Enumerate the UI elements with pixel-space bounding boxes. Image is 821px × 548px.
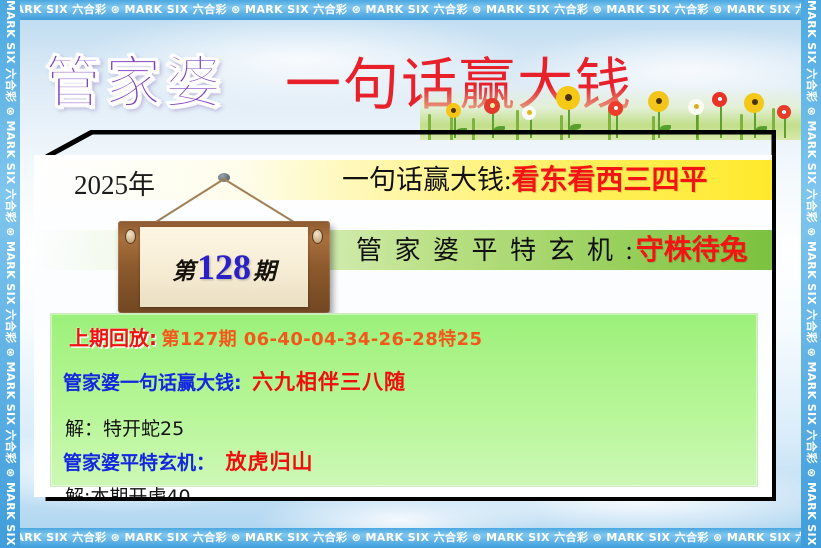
main-panel-frame: 一句话赢大钱:看东看西三四平 管 家 婆 平 特 玄 机 :守株待兔 第128期 <box>30 130 776 501</box>
panel-body: 一句话赢大钱:看东看西三四平 管 家 婆 平 特 玄 机 :守株待兔 第128期 <box>34 155 772 497</box>
plaque-text: 第128期 <box>140 227 308 307</box>
banner-yellow-value: 看东看西三四平 <box>512 163 708 196</box>
banner-yellow-content: 一句话赢大钱:看东看西三四平 <box>342 160 708 200</box>
answer-1-text: 解：特开蛇25 <box>65 418 184 440</box>
plaque-prefix: 第 <box>172 259 195 285</box>
border-band-bottom: MARK SIX 六合彩 ⊛ MARK SIX 六合彩 ⊛ MARK SIX 六… <box>0 528 821 548</box>
border-band-right: MARK SIX 六合彩 ⊛ MARK SIX 六合彩 ⊛ MARK SIX 六… <box>801 0 821 548</box>
xuanji-row-value: 放虎归山 <box>225 450 313 474</box>
border-marquee-text-right: MARK SIX 六合彩 ⊛ MARK SIX 六合彩 ⊛ MARK SIX 六… <box>801 0 821 548</box>
plaque-hole-right-icon <box>312 229 323 244</box>
content-box: 上期回放: 第127期 06-40-04-34-26-28特25 管家婆一句话赢… <box>50 313 758 487</box>
plaque-parchment: 第128期 <box>140 227 308 307</box>
xuanji-row-label: 管家婆平特玄机： <box>63 452 215 474</box>
banner-yellow-label: 一句话赢大钱: <box>342 165 512 195</box>
slogan-row-label: 管家婆一句话赢大钱: <box>63 372 242 394</box>
plaque-hole-left-icon <box>125 229 136 244</box>
answer-2-text: 解:本期开虎40 <box>65 486 191 497</box>
banner-green-content: 管 家 婆 平 特 玄 机 :守株待兔 <box>356 230 748 271</box>
plaque-suffix: 期 <box>253 259 276 285</box>
border-marquee-text-bottom: MARK SIX 六合彩 ⊛ MARK SIX 六合彩 ⊛ MARK SIX 六… <box>0 528 821 548</box>
poster-canvas: MARK SIX 六合彩 ⊛ MARK SIX 六合彩 ⊛ MARK SIX 六… <box>0 0 821 548</box>
plaque-issue-number: 128 <box>195 247 253 287</box>
border-band-top: MARK SIX 六合彩 ⊛ MARK SIX 六合彩 ⊛ MARK SIX 六… <box>0 0 821 20</box>
content-row-slogan: 管家婆一句话赢大钱: 六九相伴三八随 <box>63 366 406 396</box>
border-marquee-text-left: MARK SIX 六合彩 ⊛ MARK SIX 六合彩 ⊛ MARK SIX 六… <box>0 0 20 548</box>
border-band-left: MARK SIX 六合彩 ⊛ MARK SIX 六合彩 ⊛ MARK SIX 六… <box>0 0 20 548</box>
last-draw-numbers: 第127期 06-40-04-34-26-28特25 <box>161 329 482 350</box>
year-label: 2025年 <box>74 163 155 202</box>
content-row-last-draw: 上期回放: 第127期 06-40-04-34-26-28特25 <box>69 322 482 351</box>
brand-title: 管家婆 <box>45 38 225 119</box>
content-row-xuanji: 管家婆平特玄机： 放虎归山 <box>63 446 313 476</box>
content-row-answer-2: 解:本期开虎40 <box>65 482 191 497</box>
content-row-answer-1: 解：特开蛇25 <box>65 414 184 441</box>
plaque-board: 第128期 <box>118 221 330 313</box>
banner-green-value: 守株待兔 <box>636 233 748 266</box>
last-draw-label: 上期回放: <box>69 326 157 350</box>
banner-green-label: 管 家 婆 平 特 玄 机 : <box>356 236 636 265</box>
slogan-row-value: 六九相伴三八随 <box>252 370 406 394</box>
border-marquee-text-top: MARK SIX 六合彩 ⊛ MARK SIX 六合彩 ⊛ MARK SIX 六… <box>0 0 821 20</box>
